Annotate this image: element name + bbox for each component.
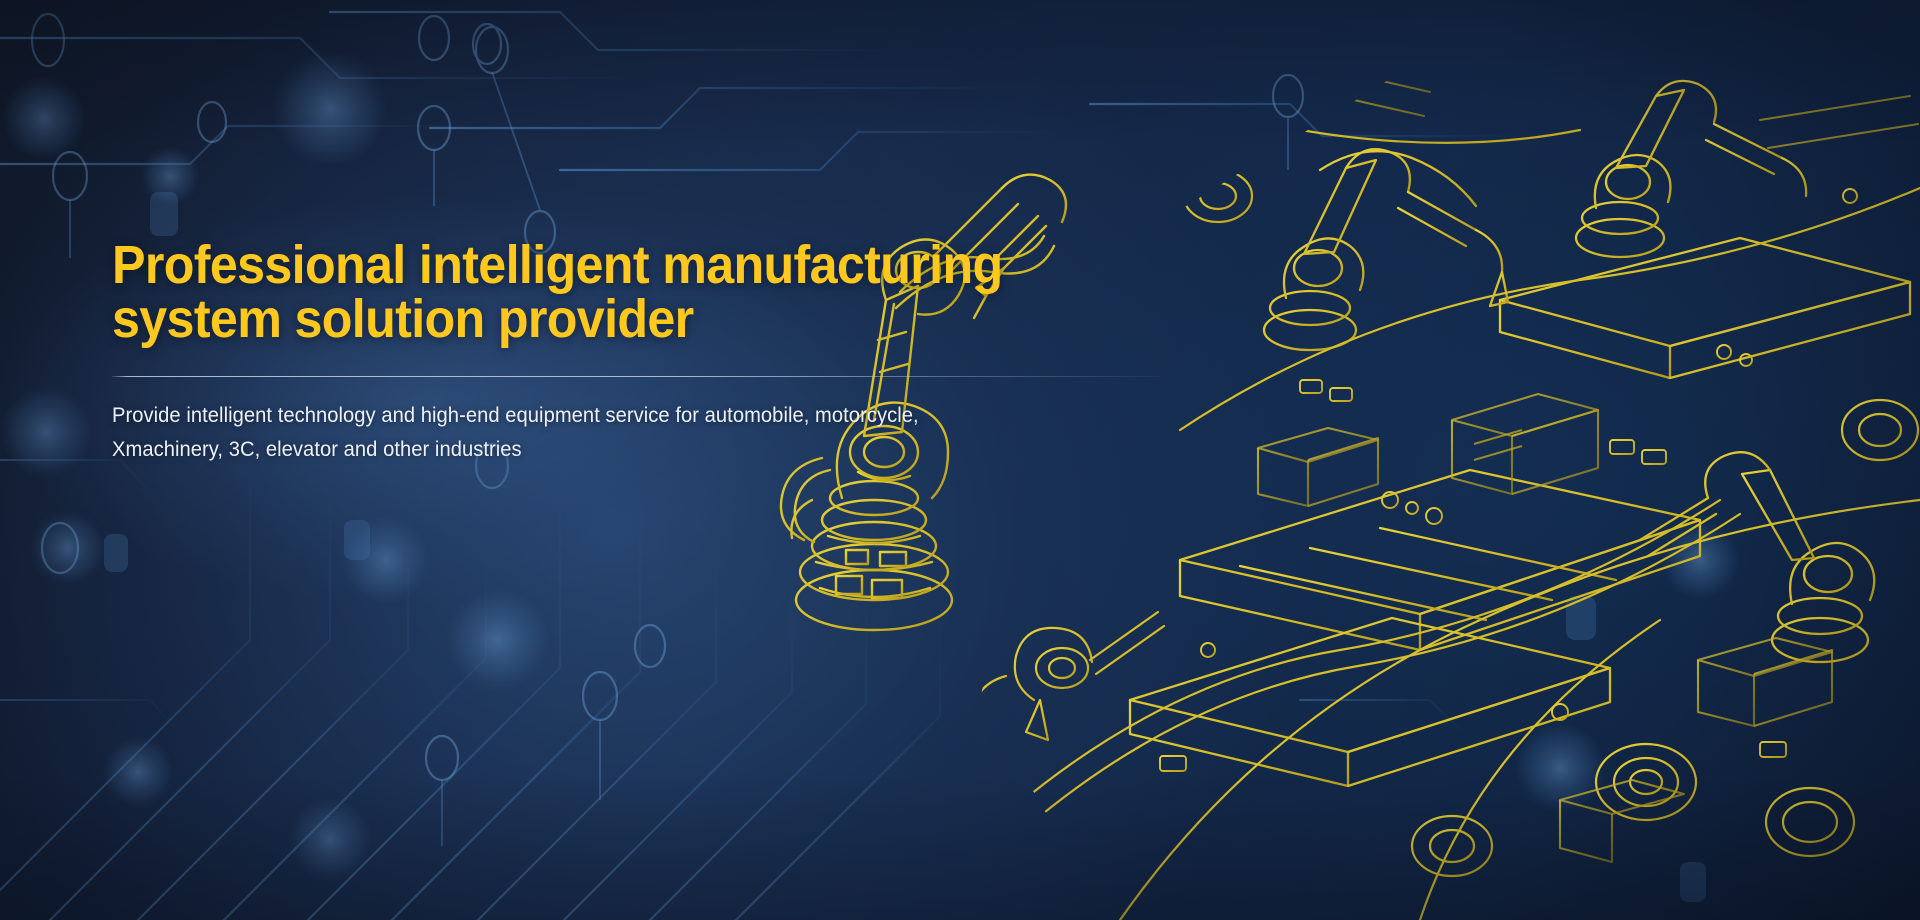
hero-subtitle-line-2: Xmachinery, 3C, elevator and other indus… <box>112 433 1130 467</box>
title-divider <box>112 376 1160 377</box>
page-title: Professional intelligent manufacturing s… <box>112 238 1098 346</box>
hero-subtitle: Provide intelligent technology and high-… <box>112 399 1130 467</box>
hero-copy: Professional intelligent manufacturing s… <box>112 238 1172 467</box>
hero-banner: Professional intelligent manufacturing s… <box>0 0 1920 920</box>
hero-subtitle-line-1: Provide intelligent technology and high-… <box>112 399 1130 433</box>
